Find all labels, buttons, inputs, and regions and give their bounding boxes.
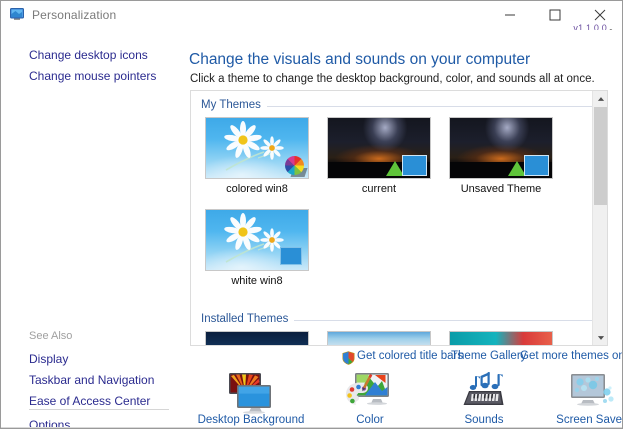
theme-thumbnail [327, 117, 431, 179]
screen-saver-icon [536, 372, 623, 414]
theme-links-row: Get colored title bars Theme Gallery Get… [190, 350, 610, 368]
installed-theme-2[interactable] [327, 331, 431, 346]
screen-saver-label: Screen Saver [536, 414, 623, 426]
link-theme-gallery[interactable]: Theme Gallery [451, 350, 526, 362]
personalization-monitor-icon [10, 8, 26, 22]
themes-scrollbar[interactable] [592, 91, 607, 345]
themes-scroll-panel: My Themes [190, 90, 608, 346]
desktop-background-icon [196, 372, 306, 414]
see-also-label: See Also [29, 330, 72, 342]
uac-shield-icon [342, 351, 355, 365]
chevron-down-icon[interactable] [593, 330, 608, 345]
sidebar-link-ease-of-access-center[interactable]: Ease of Access Center [29, 394, 150, 408]
color-button[interactable]: Color [315, 372, 425, 426]
sidebar-link-change-desktop-icons[interactable]: Change desktop icons [29, 48, 148, 62]
theme-label: colored win8 [205, 183, 309, 195]
title-bar: Personalization [1, 1, 622, 31]
personalization-settings-row: Desktop Background [181, 370, 623, 429]
desktop-background-label: Desktop Background [196, 414, 306, 426]
theme-item-unsaved-theme[interactable]: Unsaved Theme [449, 117, 553, 195]
page-title: Change the visuals and sounds on your co… [189, 51, 530, 69]
daisy-wallpaper [206, 118, 308, 178]
sounds-label: Sounds [429, 414, 539, 426]
theme-item-white-win8[interactable]: white win8 [205, 209, 309, 287]
color-wheel-badge-icon [285, 156, 304, 175]
link-get-more-themes-online[interactable]: Get more themes online [520, 350, 623, 362]
sounds-button[interactable]: Sounds [429, 372, 539, 426]
my-themes-header: My Themes [201, 99, 267, 111]
sidebar-link-change-mouse-pointers[interactable]: Change mouse pointers [29, 69, 156, 83]
theme-thumbnail [449, 117, 553, 179]
personalization-window: Personalization v1.1.0.0 Change desktop … [0, 0, 623, 429]
color-label: Color [315, 414, 425, 426]
scroll-thumb[interactable] [594, 107, 607, 205]
installed-theme-3[interactable] [449, 331, 553, 346]
theme-item-colored-win8[interactable]: colored win8 [205, 117, 309, 195]
chevron-up-icon[interactable] [593, 91, 608, 106]
link-get-colored-title-bars[interactable]: Get colored title bars [357, 350, 463, 362]
installed-themes-header: Installed Themes [201, 313, 294, 325]
left-navigation-pane: Change desktop icons Change mouse pointe… [1, 30, 181, 428]
blue-square-badge-icon [402, 155, 427, 176]
theme-thumbnail [205, 117, 309, 179]
night-sky-wallpaper [328, 118, 430, 178]
theme-label: white win8 [205, 275, 309, 287]
sidebar-link-display[interactable]: Display [29, 352, 68, 366]
theme-label: Unsaved Theme [449, 183, 553, 195]
desktop-background-button[interactable]: Desktop Background [196, 372, 306, 426]
night-sky-wallpaper [450, 118, 552, 178]
theme-label: current [327, 183, 431, 195]
main-content: Change the visuals and sounds on your co… [181, 30, 622, 428]
sidebar-link-taskbar-and-navigation[interactable]: Taskbar and Navigation [29, 373, 154, 387]
color-palette-icon [315, 372, 425, 414]
theme-item-current[interactable]: current [327, 117, 431, 195]
minimize-button[interactable] [487, 1, 532, 29]
blue-square-badge-icon [524, 155, 549, 176]
blue-square-badge-icon [280, 247, 302, 265]
screen-saver-button[interactable]: Screen Saver [536, 372, 623, 426]
maximize-button[interactable] [532, 1, 577, 29]
daisy-wallpaper [206, 210, 308, 270]
sidebar-divider [29, 409, 169, 410]
sounds-icon [429, 372, 539, 414]
theme-thumbnail [205, 209, 309, 271]
window-title: Personalization [32, 8, 116, 22]
installed-theme-1[interactable] [205, 331, 309, 346]
window-bottom-edge [1, 427, 622, 428]
page-subtitle: Click a theme to change the desktop back… [190, 73, 595, 85]
